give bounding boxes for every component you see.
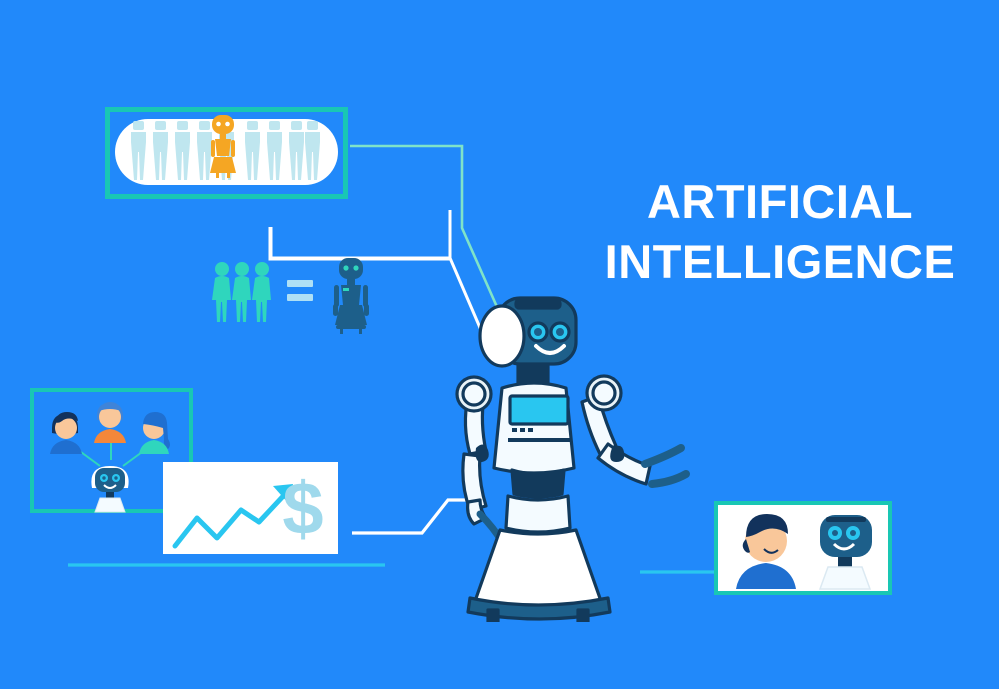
growth-chart-illustration: $ [163,462,338,554]
title-line-2: INTELLIGENCE [580,232,980,292]
equals-sign [287,280,313,301]
highlighted-robot [210,115,236,178]
robot-base [474,530,602,610]
robot-chest-bar [508,438,572,442]
human-robot-chat-panel[interactable] [714,501,892,595]
network-robot [91,466,128,512]
robot-waist [512,470,564,497]
chat-card [718,505,888,591]
title-line-1: ARTIFICIAL [580,172,980,232]
robot-leg-right [578,610,588,622]
crowd-illustration [105,107,348,199]
growth-chart-card[interactable]: $ [163,462,338,554]
page-title: ARTIFICIAL INTELLIGENCE [580,172,980,292]
person-right [139,412,170,454]
chat-illustration [718,505,888,591]
robot-chest-screen [510,396,568,424]
dollar-symbol: $ [282,467,323,550]
crowd-of-robots-panel[interactable] [105,107,348,199]
humans-equals-robot[interactable] [205,250,390,350]
infographic-canvas: ARTIFICIAL INTELLIGENCE [0,0,999,689]
robot-hips [506,496,570,532]
person-left [50,412,82,454]
chat-robot [815,513,882,589]
trend-line [175,492,287,546]
robot-chest-indicators [512,428,533,432]
chat-person [736,514,796,589]
robot-leg-left [488,610,498,622]
person-center [94,402,126,443]
robot-face-plate [480,306,524,366]
robot-head [480,298,576,366]
human-silhouettes [212,262,271,322]
main-robot[interactable] [440,292,710,622]
small-robot [333,258,369,334]
robot-arm-right [582,376,686,484]
